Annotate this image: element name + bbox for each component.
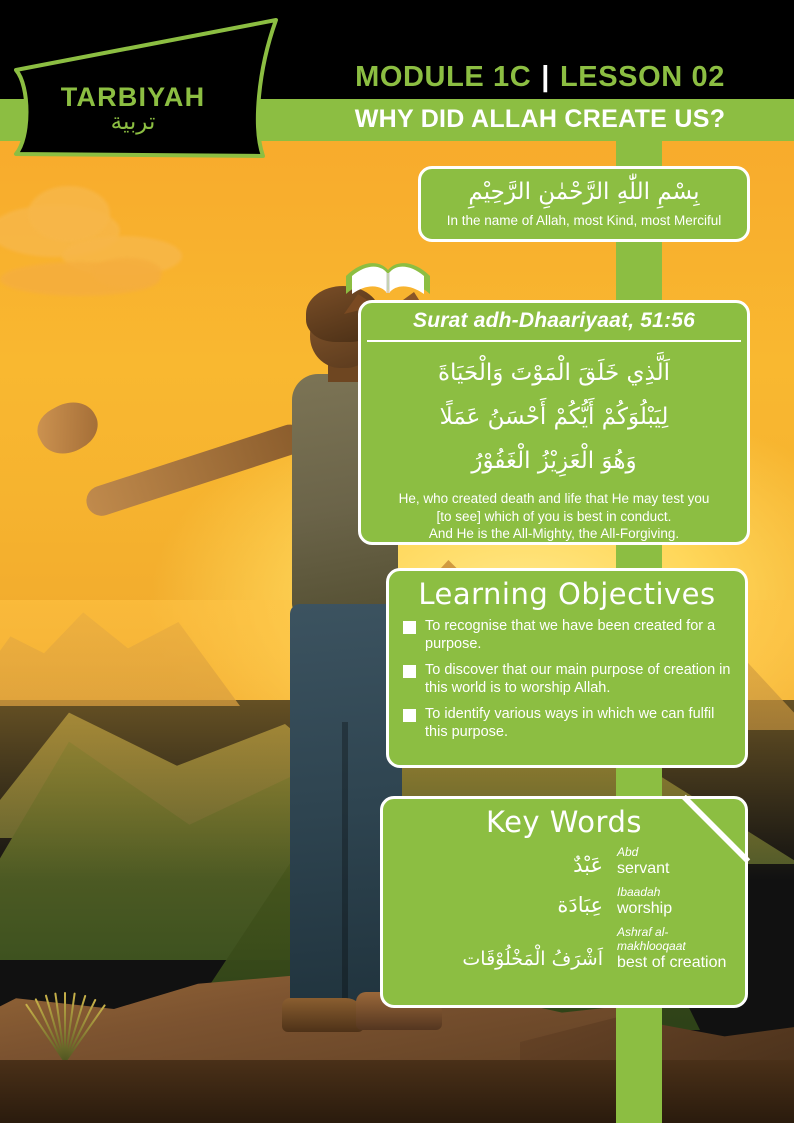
ayah-arabic-line: اَلَّذِي خَلَقَ الْمَوْتَ وَالْحَيَاةَ [375, 351, 733, 395]
ayah-arabic-line: وَهُوَ الْعَزِيْزُ الْغَفُوْرُ [375, 439, 733, 483]
key-word-transliteration: Ibaadah [617, 885, 731, 899]
objective-label: To recognise that we have been created f… [425, 617, 733, 653]
key-word-row: عِبَادَة Ibaadah worship [397, 885, 731, 919]
key-word-arabic: عَبْدٌ [397, 851, 617, 879]
key-word-row: اَشْرَفُ الْمَخْلُوْقَات Ashraf al-makhl… [397, 925, 731, 973]
page-title: WHY DID ALLAH CREATE US? [300, 102, 780, 138]
ayah-translation-line: [to see] which of you is best in conduct… [377, 508, 731, 526]
ayah-verse-number: , 51:56 [628, 309, 695, 332]
learning-objectives-title: Learning Objectives [389, 571, 745, 615]
key-word-meaning: best of creation [617, 953, 731, 973]
ayah-card: Surat adh-Dhaariyaat, 51:56 اَلَّذِي خَل… [358, 300, 750, 545]
key-word-meaning: worship [617, 899, 731, 919]
tarbiyah-logo: TARBIYAH تربية [8, 8, 288, 160]
ayah-arabic-line: لِيَبْلُوَكُمْ أَيُّكُمْ أَحْسَنُ عَمَلً… [375, 395, 733, 439]
objective-item[interactable]: To identify various ways in which we can… [403, 705, 733, 741]
key-word-meta: Ibaadah worship [617, 885, 731, 919]
module-lesson-line: MODULE 1C|LESSON 02 [300, 58, 780, 98]
key-word-transliteration: Ashraf al-makhlooqaat [617, 925, 731, 953]
ayah-translation: He, who created death and life that He m… [361, 487, 747, 543]
learning-objectives-list: To recognise that we have been created f… [389, 615, 745, 741]
key-word-arabic: اَشْرَفُ الْمَخْلُوْقَات [397, 945, 617, 973]
ayah-translation-line: He, who created death and life that He m… [377, 490, 731, 508]
key-word-arabic: عِبَادَة [397, 891, 617, 919]
cloud [28, 186, 110, 242]
module-label: MODULE 1C [355, 61, 531, 93]
cloud [92, 258, 162, 288]
bismillah-arabic: بِسْمِ اللّٰهِ الرَّحْمٰنِ الرَّحِيْمِ [421, 173, 747, 211]
header-separator: | [531, 61, 560, 93]
ayah-translation-line: And He is the All-Mighty, the All-Forgiv… [377, 525, 731, 543]
checkbox-icon[interactable] [403, 709, 416, 722]
lesson-poster: MODULE 1C|LESSON 02 WHY DID ALLAH CREATE… [0, 0, 794, 1123]
page-fold-icon [680, 793, 752, 865]
leg-seam [342, 722, 348, 1002]
checkbox-icon[interactable] [403, 665, 416, 678]
key-word-meta: Ashraf al-makhlooqaat best of creation [617, 925, 731, 973]
objective-label: To identify various ways in which we can… [425, 705, 733, 741]
shoe [282, 998, 364, 1032]
grass-tuft [20, 972, 110, 1062]
bismillah-translation: In the name of Allah, most Kind, most Me… [421, 212, 747, 229]
ayah-reference: Surat adh-Dhaariyaat, 51:56 [361, 303, 747, 340]
bismillah-card: بِسْمِ اللّٰهِ الرَّحْمٰنِ الرَّحِيْمِ I… [418, 166, 750, 242]
checkbox-icon[interactable] [403, 621, 416, 634]
objective-label: To discover that our main purpose of cre… [425, 661, 733, 697]
objective-item[interactable]: To discover that our main purpose of cre… [403, 661, 733, 697]
logo-name-ar: تربية [8, 109, 258, 135]
objective-item[interactable]: To recognise that we have been created f… [403, 617, 733, 653]
lesson-label: LESSON 02 [560, 61, 725, 93]
ayah-arabic: اَلَّذِي خَلَقَ الْمَوْتَ وَالْحَيَاةَ ل… [361, 342, 747, 487]
learning-objectives-card: Learning Objectives To recognise that we… [386, 568, 748, 768]
ayah-surah-name: Surat adh-Dhaariyaat [413, 309, 628, 332]
